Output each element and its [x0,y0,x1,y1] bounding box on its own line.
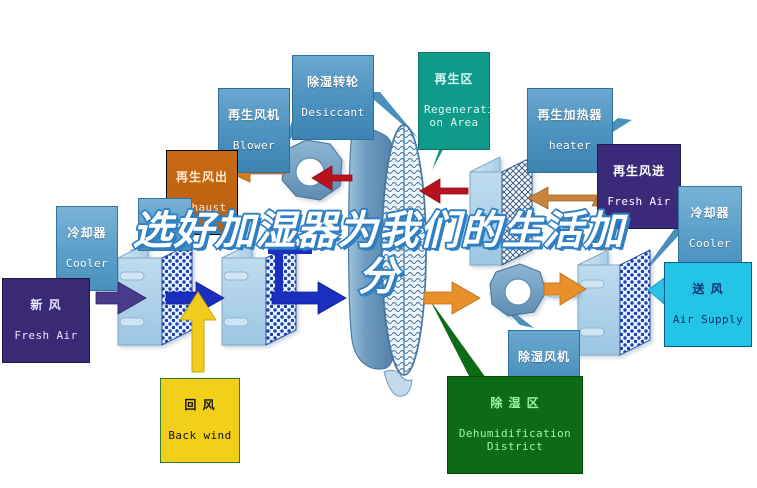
label-regeneration-heater-cn: 再生加热器 [533,109,607,122]
label-desiccant-wheel: 除湿转轮 Desiccant [292,55,374,140]
label-desiccant-wheel-en: Desiccant [298,107,368,119]
label-back-wind: 回 风 Back wind [160,378,240,463]
label-cooler-left-1-en: Cooler [62,258,112,270]
label-air-supply: 送 风 Air Supply [664,262,752,347]
label-dehumidification-blower-cn: 除湿风机 [514,351,574,364]
label-air-supply-en: Air Supply [670,314,746,326]
label-regeneration-air-in: 再生风进 Fresh Air [597,144,681,229]
arrow-to-rotor-dehumid-zone [268,228,346,314]
label-cooler-right-cn: 冷却器 [684,207,736,220]
label-dehumidification-district: 除 湿 区 Dehumidification District [447,376,583,474]
supply-coil-unit [578,250,650,355]
label-regeneration-area-cn: 再生区 [424,73,484,86]
label-regeneration-area: 再生区 Regenerati on Area [418,52,490,150]
label-regeneration-blower-cn: 再生风机 [224,109,284,122]
label-desiccant-wheel-cn: 除湿转轮 [298,76,368,89]
regeneration-blower-unit [282,140,342,200]
label-back-wind-cn: 回 风 [166,399,234,412]
label-regeneration-area-en: Regenerati on Area [424,104,484,129]
label-air-supply-cn: 送 风 [670,283,746,296]
label-cooler-left-1-cn: 冷却器 [62,227,112,240]
label-back-wind-en: Back wind [166,430,234,442]
label-fresh-air-in-en: Fresh Air [8,330,84,342]
label-cooler-left-2-cn: 冷却器 [143,218,187,231]
label-regeneration-air-in-en: Fresh Air [603,196,675,208]
label-cooler-right: 冷却器 Cooler [678,186,742,271]
label-dehumidification-district-cn: 除 湿 区 [453,397,577,410]
regeneration-heater-unit [470,157,532,265]
desiccant-rotor-wheel [349,125,426,396]
label-fresh-air-in-cn: 新 风 [8,299,84,312]
label-cooler-left-2: 冷却器 [138,198,192,251]
label-regeneration-air-out-cn: 再生风出 [172,171,232,184]
arrow-rotor-to-dehumid-blower [424,282,480,314]
label-cooler-right-en: Cooler [684,238,736,250]
label-regeneration-heater-en: heater [533,140,607,152]
label-fresh-air-in: 新 风 Fresh Air [2,278,90,363]
watermark-text: xrjy [360,322,388,337]
dehumidifier-process-diagram: 除湿转轮 Desiccant 再生风机 Blower 再生区 Regenerat… [0,0,757,488]
label-regeneration-air-in-cn: 再生风进 [603,165,675,178]
label-dehumidification-district-en: Dehumidification District [453,428,577,453]
arrow-heated-regen-air [420,179,468,203]
